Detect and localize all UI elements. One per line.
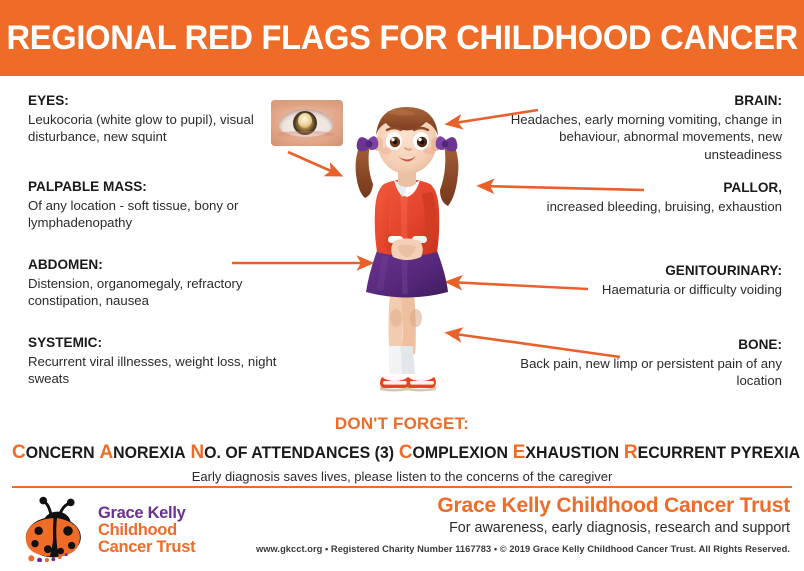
flag-eyes-body: Leukocoria (white glow to pupil), visual… [28,111,278,146]
acronym-capital: R [624,441,638,463]
flag-systemic-heading: SYSTEMIC: [28,334,278,352]
flag-eyes: EYES: Leukocoria (white glow to pupil), … [28,92,278,146]
flag-bone-body: Back pain, new limp or persistent pain o… [502,355,782,390]
flag-systemic-body: Recurrent viral illnesses, weight loss, … [28,353,278,388]
flag-abdomen-heading: ABDOMEN: [28,256,283,274]
flag-palpable-mass-body: Of any location - soft tissue, bony or l… [28,197,278,232]
flag-systemic: SYSTEMIC: Recurrent viral illnesses, wei… [28,334,278,388]
footer: Grace Kelly Childhood Cancer Trust Grace… [0,492,804,571]
flag-palpable-mass: PALPABLE MASS: Of any location - soft ti… [28,178,278,232]
girl-hair-bow-left [357,136,379,151]
acronym-capital: C [12,441,26,463]
footer-text-block: Grace Kelly Childhood Cancer Trust For a… [320,494,790,536]
eye-with-leukocoria-photo [271,100,343,146]
charity-logo: Grace Kelly Childhood Cancer Trust [20,496,210,566]
flag-brain: BRAIN: Headaches, early morning vomiting… [492,92,782,163]
flag-brain-body: Headaches, early morning vomiting, chang… [492,111,782,163]
girl-shoes [380,377,436,392]
flag-abdomen: ABDOMEN: Distension, organomegaly, refra… [28,256,283,310]
logo-wordmark: Grace Kelly Childhood Cancer Trust [98,505,195,556]
flag-abdomen-body: Distension, organomegaly, refractory con… [28,275,283,310]
arrow-eyes [288,152,340,175]
dont-forget-title: DON'T FORGET: [0,414,804,434]
flag-genitourinary-body: Haematuria or difficulty voiding [492,281,782,298]
footer-tagline: For awareness, early diagnosis, research… [320,520,790,536]
acronym-word: O. OF ATTENDANCES (3) [204,444,394,462]
eye-leukocoria-glow [298,113,312,128]
logo-line-3: Cancer Trust [98,539,195,556]
girl-hair-bow-right [436,136,458,151]
acronym-capital: E [513,441,526,463]
flag-pallor-heading: PALLOR, [532,179,782,197]
eye-upper-lid [271,100,343,112]
acronym-word: XHAUSTION [525,444,619,462]
poster-root: REGIONAL RED FLAGS FOR CHILDHOOD CANCER … [0,0,804,571]
flag-pallor-body: increased bleeding, bruising, exhaustion [532,198,782,215]
flag-pallor: PALLOR, increased bleeding, bruising, ex… [532,179,782,215]
flag-bone-heading: BONE: [502,336,782,354]
logo-line-1: Grace Kelly [98,505,195,522]
dont-forget-section: DON'T FORGET: CONCERNANOREXIANO. OF ATTE… [0,414,804,484]
ladybug-icon [20,496,94,562]
flag-genitourinary-heading: GENITOURINARY: [492,262,782,280]
flag-palpable-mass-heading: PALPABLE MASS: [28,178,278,196]
acronym-word: NOREXIA [113,444,185,462]
flag-bone: BONE: Back pain, new limp or persistent … [502,336,782,390]
logo-line-2: Childhood [98,522,195,539]
girl-legs [389,292,423,374]
acronym-word: ECURRENT PYREXIA [638,444,801,462]
acronym-capital: N [190,441,204,463]
page-title: REGIONAL RED FLAGS FOR CHILDHOOD CANCER [6,19,797,58]
flag-brain-heading: BRAIN: [492,92,782,110]
dont-forget-subtitle: Early diagnosis saves lives, please list… [0,469,804,484]
footer-divider [12,486,792,488]
header-banner: REGIONAL RED FLAGS FOR CHILDHOOD CANCER [0,0,804,76]
acronym-capital: C [399,441,413,463]
dont-forget-acronym: CONCERNANOREXIANO. OF ATTENDANCES (3)COM… [12,441,792,464]
acronym-word: ONCERN [26,444,95,462]
acronym-word: OMPLEXION [413,444,508,462]
flag-genitourinary: GENITOURINARY: Haematuria or difficulty … [492,262,782,298]
footer-fine-print: www.gkcct.org • Registered Charity Numbe… [230,544,790,554]
footer-charity-name: Grace Kelly Childhood Cancer Trust [320,494,790,518]
eye-lower-lid [277,131,335,138]
flag-eyes-heading: EYES: [28,92,278,110]
acronym-capital: A [99,441,113,463]
cartoon-girl-illustration [342,96,472,396]
